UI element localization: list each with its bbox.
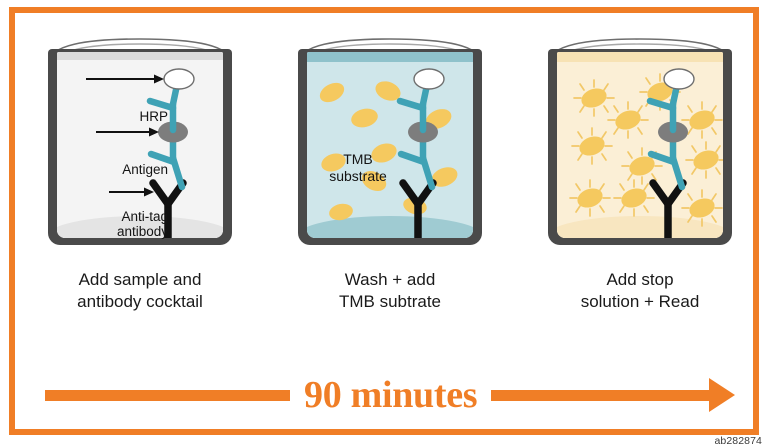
hrp-glyph-1 [164,69,194,89]
step-2-well [298,49,482,245]
molecular-complex-2 [307,52,473,238]
well-cavity-2 [307,52,473,238]
timeline-label: 90 minutes [290,373,491,417]
label-hrp: HRP [58,109,168,124]
well-row: HRP Antigen Anti-tag antibody Add sample… [15,31,765,263]
label-anti-tag-antibody: Anti-tag antibody [44,209,168,239]
molecular-complex-3 [557,52,723,238]
step-2-caption: Wash + add TMB subtrate [290,269,490,313]
timeline-bar-right [491,390,709,401]
hrp-glyph-2 [414,69,444,89]
well-cavity-3 [557,52,723,238]
anti-tag-antibody-glyph-2 [403,183,433,238]
detection-antibody-upper-glyph-2 [400,85,427,130]
step-1-caption: Add sample and antibody cocktail [40,269,240,313]
anti-tag-antibody-glyph-3 [653,183,683,238]
label-antigen: Antigen [48,162,168,177]
arrow-head-icon [709,378,735,412]
timeline-right-group [491,378,735,412]
timeline-arrow: 90 minutes [45,365,735,425]
step-1-column: HRP Antigen Anti-tag antibody Add sample… [40,31,240,263]
step-2-column: TMB substrate Wash + add TMB subtrate [290,31,490,263]
step-3-column: Add stop solution + Read [540,31,740,263]
timeline-bar-left [45,390,290,401]
tmb-substrate-label: TMB substrate [308,151,408,184]
product-code: ab282874 [714,435,762,447]
figure-frame: HRP Antigen Anti-tag antibody Add sample… [9,7,759,435]
hrp-glyph-3 [664,69,694,89]
step-3-caption: Add stop solution + Read [540,269,740,313]
step-3-well [548,49,732,245]
detection-antibody-upper-glyph-3 [650,85,677,130]
